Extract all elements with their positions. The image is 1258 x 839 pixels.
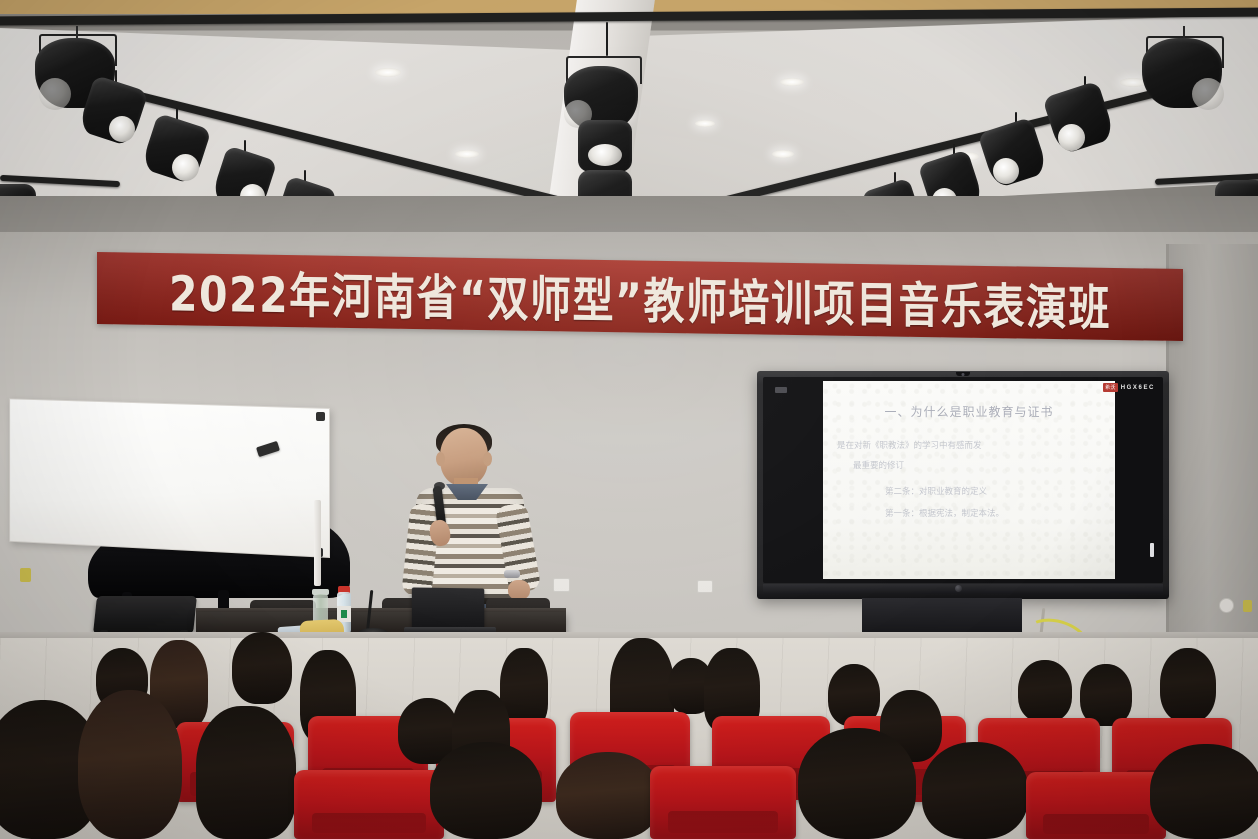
- ceiling-downlight: [772, 150, 794, 158]
- stage-spotlight: [148, 108, 210, 190]
- audience-head: [430, 742, 542, 839]
- ceiling-downlight: [455, 150, 479, 158]
- panel-screen[interactable]: 一、为什么是职业教育与证书 是在对新《职教法》的学习中有感而发 最重要的修订 第…: [763, 377, 1163, 583]
- audience-seat[interactable]: [650, 766, 796, 839]
- slide-line-4: 第一条：根据宪法，制定本法。: [885, 507, 1004, 519]
- piano-bench: [93, 596, 197, 634]
- presenter-ear: [436, 452, 445, 466]
- audience-head: [922, 742, 1028, 839]
- stage-spotlight: [1140, 26, 1228, 122]
- banner-title: 2022年河南省“双师型”教师培训项目音乐表演班: [169, 254, 1111, 340]
- audience-head: [556, 752, 660, 839]
- watermark-code: HGX6EC: [1121, 385, 1155, 391]
- presenter-ear: [483, 452, 492, 466]
- ceiling-downlight: [780, 78, 804, 86]
- wall-round-fixture: [1219, 598, 1234, 613]
- audience-seat[interactable]: [294, 770, 444, 839]
- panel-brand-icon: [775, 387, 787, 393]
- presentation-slide: 一、为什么是职业教育与证书 是在对新《职教法》的学习中有感而发 最重要的修订 第…: [823, 381, 1115, 579]
- slide-title: 一、为什么是职业教育与证书: [823, 403, 1115, 420]
- audience-head: [798, 728, 916, 839]
- panel-indicator-icon: [1150, 543, 1154, 557]
- audience-head: [1160, 648, 1216, 722]
- whiteboard-assembly: [0, 408, 337, 568]
- slide-line-1: 是在对新《职教法》的学习中有感而发: [837, 439, 982, 451]
- whiteboard-corner: [316, 412, 325, 421]
- stage-spotlight: [1050, 76, 1116, 162]
- wall-socket-yellow[interactable]: [20, 568, 31, 582]
- slide-line-2: 最重要的修订: [853, 459, 904, 471]
- audience-seat[interactable]: [1026, 772, 1166, 839]
- slide-line-3: 第二条：对职业教育的定义: [885, 485, 987, 497]
- wall-socket[interactable]: [697, 580, 713, 593]
- wall-socket-yellow[interactable]: [1243, 600, 1252, 612]
- laptop-screen[interactable]: [412, 587, 484, 630]
- ceiling-downlight: [375, 68, 401, 77]
- audience-head: [1018, 660, 1072, 722]
- watermark-tag: 希沃: [1103, 383, 1118, 392]
- audience-head: [78, 690, 182, 839]
- audience-head: [232, 632, 292, 704]
- panel-camera-icon: [956, 372, 970, 376]
- presenter-right-hand: [508, 580, 530, 600]
- stage-spotlight: [985, 112, 1047, 196]
- lecture-hall-photo: 2022年河南省“双师型”教师培训项目音乐表演班: [0, 0, 1258, 839]
- wristwatch: [504, 570, 520, 578]
- ceiling-downlight: [695, 120, 715, 127]
- whiteboard[interactable]: [9, 398, 330, 558]
- interactive-flat-panel[interactable]: 一、为什么是职业教育与证书 是在对新《职教法》的学习中有感而发 最重要的修订 第…: [757, 371, 1169, 599]
- audience-head: [196, 706, 296, 839]
- whiteboard-stand-post: [314, 500, 321, 586]
- stage-spotlight: [85, 70, 147, 152]
- screen-watermark: 希沃 HGX6EC: [1103, 383, 1155, 392]
- stage-spotlight: [562, 22, 648, 122]
- bottle-label: [337, 606, 351, 622]
- audience-head: [1150, 744, 1258, 839]
- panel-bottom-bar: [763, 584, 1163, 594]
- audience-head: [1080, 664, 1132, 726]
- panel-power-button[interactable]: [955, 585, 962, 592]
